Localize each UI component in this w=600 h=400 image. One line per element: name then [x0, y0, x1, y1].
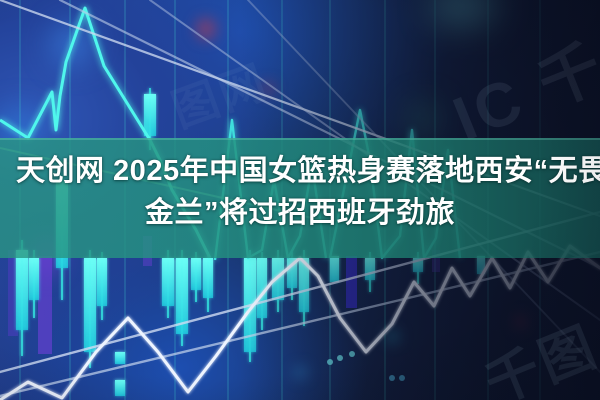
news-thumbnail-image: 图网 IC 千 千图 天创网 2025年中国女篮热身赛落地西安“无畏 金兰”将过…: [0, 0, 600, 400]
vignette-overlay: [0, 0, 600, 400]
